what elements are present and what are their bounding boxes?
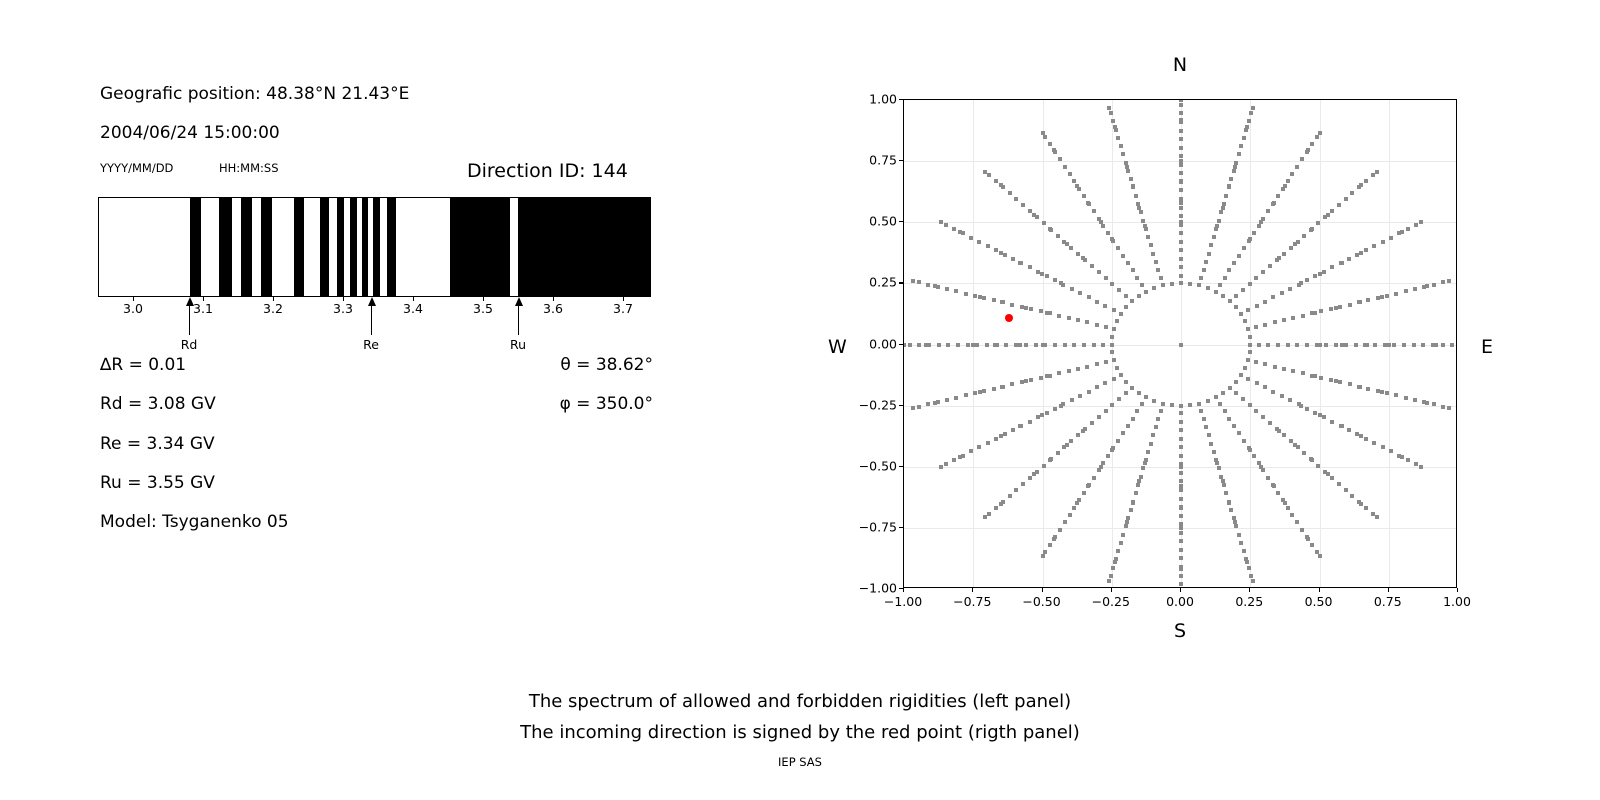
direction-grid-point [1375,170,1379,174]
direction-grid-point [1234,161,1238,165]
param-phi: φ = 350.0° [443,394,653,414]
direction-grid-point [1344,343,1348,347]
direction-grid-point [1116,549,1120,553]
rigidity-tick-label: 3.3 [333,301,353,316]
direction-grid-point [926,402,930,406]
direction-grid-point [1357,500,1361,504]
direction-grid-point [1305,278,1309,282]
x-tick-mark [1388,588,1389,592]
direction-grid-point [1104,325,1108,329]
direction-grid-point [1348,382,1352,386]
y-tick-mark [899,527,903,528]
direction-grid-point [1053,407,1057,411]
direction-grid-point [1227,268,1231,272]
direction-grid-point [1179,497,1183,501]
direction-grid-point [1261,217,1265,221]
direction-grid-point [1288,398,1292,402]
direction-grid-point [1090,421,1094,425]
direction-grid-point [1228,299,1232,303]
direction-grid-point [1115,366,1119,370]
direction-grid-point [1233,520,1237,524]
direction-grid-point [1339,261,1343,265]
rigidity-tick-label: 3.0 [123,301,143,316]
direction-grid-point [1364,437,1368,441]
direction-grid-point [1286,179,1290,183]
direction-grid-point [1207,252,1211,256]
direction-grid-point [1179,526,1183,530]
x-tick-label: 0.00 [1166,594,1194,609]
direction-grid-point [1412,343,1416,347]
direction-grid-point [1085,320,1089,324]
direction-grid-point [1359,251,1363,255]
direction-grid-point [1318,554,1322,558]
direction-grid-point [1254,409,1258,413]
x-tick-mark [1457,588,1458,592]
param-rd: Rd = 3.08 GV [100,394,216,414]
direction-grid-point [1008,494,1012,498]
direction-grid-point [1114,557,1118,561]
direction-grid-point [1110,282,1114,286]
param-re: Re = 3.34 GV [100,434,215,454]
direction-grid-point [1130,386,1134,390]
direction-grid-point [1276,194,1280,198]
direction-grid-point [1227,417,1231,421]
direction-grid-point [1154,425,1158,429]
direction-grid-point [1069,439,1073,443]
direction-grid-point [1248,282,1252,286]
direction-grid-point [1243,366,1247,370]
direction-grid-point [1241,397,1245,401]
direction-grid-point [983,515,987,519]
arrow-stem [518,305,519,335]
direction-grid-point [1121,431,1125,435]
direction-grid-point [1266,209,1270,213]
direction-grid-point [1003,253,1007,257]
direction-grid-point [1116,246,1120,250]
direction-grid-point [1170,403,1174,407]
direction-grid-point [1248,350,1252,354]
direction-grid-point [1112,327,1116,331]
direction-grid-point [1106,231,1110,235]
direction-grid-point [1323,470,1327,474]
direction-grid-point [1313,411,1317,415]
direction-grid-point [1111,119,1115,123]
direction-grid-point [1404,396,1408,400]
y-tick-label: −0.25 [837,397,897,412]
direction-grid-point [1242,246,1246,250]
direction-grid-point [1024,343,1028,347]
direction-grid-point [1029,378,1033,382]
direction-grid-point [1063,343,1067,347]
direction-grid-point [1124,391,1128,395]
direction-grid-point [1394,292,1398,296]
direction-grid-point [1045,411,1049,415]
direction-grid-point [1255,304,1259,308]
compass-label-south: S [1174,620,1186,642]
direction-grid-point [1117,397,1121,401]
rigidity-marker-label: Rd [181,337,198,352]
y-tick-label: 1.00 [837,92,897,107]
direction-grid-point [1179,223,1183,227]
direction-grid-point [1357,185,1361,189]
direction-grid-point [1112,308,1116,312]
direction-grid-point [1323,215,1327,219]
direction-grid-point [1028,265,1032,269]
direction-grid-point [1296,445,1300,449]
direction-grid-point [1422,285,1426,289]
direction-grid-point [1082,194,1086,198]
direction-grid-point [1056,234,1060,238]
x-tick-mark [1042,588,1043,592]
direction-grid-point [944,223,948,227]
direction-grid-point [961,231,965,235]
direction-grid-point [1179,428,1183,432]
direction-grid-point [1357,385,1361,389]
direction-grid-point [1239,373,1243,377]
direction-grid-point [1085,365,1089,369]
direction-grid-point [1101,461,1105,465]
direction-grid-point [1372,244,1376,248]
direction-grid-point [939,220,943,224]
direction-grid-point [1447,406,1451,410]
rigidity-tick-label: 3.2 [263,301,283,316]
direction-grid-point [1273,365,1277,369]
direction-grid-point [936,400,940,404]
direction-grid-point [1140,283,1144,287]
direction-grid-point [1330,265,1334,269]
direction-grid-point [1316,464,1320,468]
direction-grid-point [1266,476,1270,480]
direction-grid-point [1414,462,1418,466]
direction-grid-point [1248,343,1252,347]
direction-grid-point [1207,433,1211,437]
direction-grid-point [1072,506,1076,510]
direction-grid-point [1103,381,1107,385]
rigidity-tick-label: 3.6 [543,301,563,316]
rigidity-tick-label: 3.4 [403,301,423,316]
rigidity-spectrum-panel: Geografic position: 48.38°N 21.43°E 2004… [0,0,760,660]
direction-grid-point [1095,385,1099,389]
direction-grid-point [1035,470,1039,474]
direction-grid-point [1232,261,1236,265]
direction-grid-point [1257,461,1261,465]
direction-grid-point [1106,454,1110,458]
direction-map-panel: N S W E −1.00−0.75−0.50−0.250.000.250.50… [903,99,1457,588]
direction-grid-point [1251,579,1255,583]
direction-grid-point [1156,268,1160,272]
direction-grid-point [1385,391,1389,395]
direction-grid-point [1337,482,1341,486]
direction-grid-point [1219,475,1223,479]
direction-grid-point [1097,415,1101,419]
direction-grid-point [1043,343,1047,347]
direction-grid-point [936,285,940,289]
direction-grid-point [1179,99,1183,102]
y-tick-label: 0.00 [837,336,897,351]
direction-grid-point [1034,343,1038,347]
direction-grid-point [1217,466,1221,470]
time-format-hint: HH:MM:SS [219,161,279,175]
direction-grid-point [1244,557,1248,561]
direction-grid-point [994,248,998,252]
direction-grid-point [1271,295,1275,299]
direction-grid-point [1295,165,1299,169]
direction-grid-point [994,437,998,441]
direction-grid-point [1246,358,1250,362]
direction-grid-point [1380,295,1384,299]
direction-grid-point [1151,252,1155,256]
direction-grid-point [1295,343,1299,347]
param-model: Model: Tsyganenko 05 [100,512,289,532]
direction-grid-point [1241,288,1245,292]
direction-grid-point [1095,323,1099,327]
direction-grid-point [946,343,950,347]
direction-grid-point [1110,335,1114,339]
direction-grid-point [1282,318,1286,322]
direction-grid-point [1019,261,1023,265]
direction-grid-point [1119,144,1123,148]
direction-grid-point [1350,494,1354,498]
direction-grid-point [1101,343,1105,347]
direction-grid-point [1126,261,1130,265]
direction-grid-point [1092,476,1096,480]
direction-grid-point [1254,360,1258,364]
direction-grid-point [1310,374,1314,378]
direction-grid-point [1330,476,1334,480]
direction-grid-point [1234,391,1238,395]
direction-grid-point [1413,398,1417,402]
direction-grid-point [1159,409,1163,413]
direction-grid-point [1057,371,1061,375]
direction-grid-point [1432,402,1436,406]
direction-grid-point [1188,282,1192,286]
direction-grid-point [1144,458,1148,462]
compass-label-east: E [1481,336,1493,358]
direction-grid-point [1364,506,1368,510]
direction-grid-point [1040,413,1044,417]
direction-grid-point [1179,556,1183,560]
direction-grid-point [977,445,981,449]
direction-grid-point [1124,305,1128,309]
direction-grid-point [1010,382,1014,386]
direction-grid-point [1077,187,1081,191]
direction-grid-point [1149,243,1153,247]
direction-grid-point [1062,240,1066,244]
direction-grid-point [964,393,968,397]
direction-grid-point [1234,305,1238,309]
direction-grid-point [1092,343,1096,347]
direction-grid-point [1276,491,1280,495]
y-tick-mark [899,282,903,283]
direction-grid-point [1275,258,1279,262]
direction-grid-point [1224,491,1228,495]
direction-grid-point [1179,171,1183,175]
direction-grid-point [986,441,990,445]
direction-grid-point [1179,188,1183,192]
direction-grid-point [1004,343,1008,347]
direction-grid-point [1179,420,1183,424]
x-tick-label: −0.25 [1092,594,1130,609]
direction-grid-point [1338,380,1342,384]
direction-grid-point [1350,191,1354,195]
direction-grid-point [1337,203,1341,207]
direction-grid-point [1116,136,1120,140]
direction-grid-point [1212,450,1216,454]
direction-grid-point [1246,327,1250,331]
direction-grid-point [1257,343,1261,347]
direction-grid-point [1251,106,1255,110]
direction-grid-point [1232,516,1236,520]
direction-grid-point [1129,508,1133,512]
direction-grid-point [1385,294,1389,298]
direction-grid-point [1441,280,1445,284]
compass-label-north: N [1173,54,1187,76]
direction-grid-point [987,173,991,177]
y-tick-mark [899,99,903,100]
direction-grid-point [1219,210,1223,214]
direction-grid-point [1097,217,1101,221]
direction-grid-point [1273,320,1277,324]
direction-grid-point [1061,283,1065,287]
param-ru: Ru = 3.55 GV [100,473,215,493]
direction-grid-point [1404,289,1408,293]
direction-grid-point [1130,299,1134,303]
direction-grid-point [995,343,999,347]
direction-grid-point [1383,343,1387,347]
direction-grid-point [1295,520,1299,524]
direction-grid-point [1090,264,1094,268]
direction-grid-point [1223,409,1227,413]
direction-grid-point [1243,319,1247,323]
direction-grid-point [1397,231,1401,235]
direction-grid-point [1067,369,1071,373]
direction-grid-point [926,283,930,287]
direction-grid-point [1255,381,1259,385]
y-tick-label: −0.50 [837,458,897,473]
direction-grid-point [1376,296,1380,300]
direction-grid-point [1058,528,1062,532]
direction-grid-point [1290,172,1294,176]
footer-credit: IEP SAS [0,755,1600,769]
direction-grid-point [1126,169,1130,173]
direction-grid-point [1179,522,1183,526]
direction-grid-point [1305,535,1309,539]
x-tick-mark [903,588,904,592]
direction-grid-point [1179,582,1183,586]
direction-grid-point [1139,210,1143,214]
direction-grid-point [1347,428,1351,432]
direction-grid-point [1110,350,1114,354]
direction-grid-point [1083,427,1087,431]
direction-grid-point [1247,446,1251,450]
direction-grid-point [1281,498,1285,502]
direction-grid-point [1389,236,1393,240]
forbidden-band [337,197,344,297]
direction-grid-point [1137,294,1141,298]
direction-grid-point [1020,380,1024,384]
direction-grid-point [1077,498,1081,502]
direction-grid-point [1043,550,1047,554]
direction-grid-point [1049,228,1053,232]
direction-grid-point [1024,306,1028,310]
direction-grid-point [1136,483,1140,487]
direction-grid-point [1355,253,1359,257]
direction-grid-point [1456,343,1457,347]
direction-grid-point [1039,376,1043,380]
direction-grid-point [1097,270,1101,274]
direction-grid-point [1076,433,1080,437]
direction-grid-point [1040,272,1044,276]
direction-grid-point [1121,152,1125,156]
y-tick-label: 0.75 [837,153,897,168]
direction-grid-point [1179,471,1183,475]
x-tick-label: 0.50 [1305,594,1333,609]
direction-grid-point [1179,206,1183,210]
direction-grid-point [1062,445,1066,449]
direction-grid-point [1275,427,1279,431]
direction-grid-point [954,289,958,293]
direction-grid-point [1019,424,1023,428]
forbidden-band [261,197,272,297]
direction-grid-point [1397,454,1401,458]
direction-grid-point [1161,283,1165,287]
x-tick-mark [1111,588,1112,592]
direction-grid-point [1263,385,1267,389]
direction-grid-point [1247,566,1251,570]
direction-grid-point [1144,227,1148,231]
y-tick-label: 0.50 [837,214,897,229]
y-tick-label: 0.25 [837,275,897,290]
direction-grid-point [1239,541,1243,545]
direction-grid-point [1001,500,1005,504]
direction-grid-point [1179,129,1183,133]
direction-grid-point [1248,403,1252,407]
direction-grid-point [1261,270,1265,274]
direction-grid-point [1134,491,1138,495]
direction-grid-point [1188,403,1192,407]
direction-grid-point [954,396,958,400]
direction-grid-point [1197,283,1201,287]
y-tick-mark [899,466,903,467]
direction-grid-point [1121,254,1125,258]
forbidden-band [320,197,329,297]
direction-grid-point [1072,179,1076,183]
direction-grid-point [1179,281,1183,285]
direction-grid-point [1227,185,1231,189]
direction-grid-point [952,227,956,231]
direction-grid-point [982,296,986,300]
rigidity-tick-label: 3.7 [613,301,633,316]
direction-grid-point [1214,290,1218,294]
direction-grid-point [1068,172,1072,176]
direction-grid-point [1068,513,1072,517]
incoming-direction-point [1005,314,1013,322]
direction-grid-point [1339,424,1343,428]
direction-grid-point [1330,420,1334,424]
x-tick-label: 1.00 [1443,594,1471,609]
direction-grid-point [1011,257,1015,261]
direction-grid-point [1179,146,1183,150]
direction-grid-point [1107,106,1111,110]
direction-grid-point [1095,300,1099,304]
direction-grid-point [1039,309,1043,313]
direction-grid-point [1432,283,1436,287]
direction-grid-point [1246,308,1250,312]
direction-grid-point [1042,464,1046,468]
direction-grid-point [1179,214,1183,218]
direction-grid-point [1104,360,1108,364]
direction-grid-point [1276,343,1280,347]
